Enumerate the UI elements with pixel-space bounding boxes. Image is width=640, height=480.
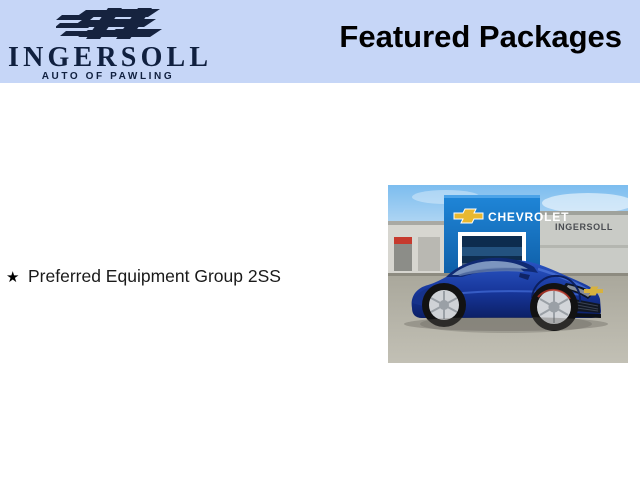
- dealer-logo: INGERSOLL AUTO OF PAWLING: [8, 4, 208, 80]
- vehicle-photo: INGERSOLL CHEVROLET: [388, 185, 628, 363]
- logo-wordmark: INGERSOLL: [8, 44, 208, 72]
- svg-text:CHEVROLET: CHEVROLET: [488, 210, 569, 224]
- page-header: INGERSOLL AUTO OF PAWLING Featured Packa…: [0, 0, 640, 83]
- page-title: Featured Packages: [339, 18, 622, 55]
- logo-tagline: AUTO OF PAWLING: [8, 72, 208, 82]
- featured-packages-list: ★ Preferred Equipment Group 2SS: [6, 265, 366, 295]
- main-content: ★ Preferred Equipment Group 2SS: [0, 83, 640, 480]
- ingersoll-winged-emblem: [56, 6, 176, 42]
- star-bullet-icon: ★: [6, 267, 28, 289]
- list-item: ★ Preferred Equipment Group 2SS: [6, 265, 366, 289]
- package-label: Preferred Equipment Group 2SS: [28, 265, 281, 287]
